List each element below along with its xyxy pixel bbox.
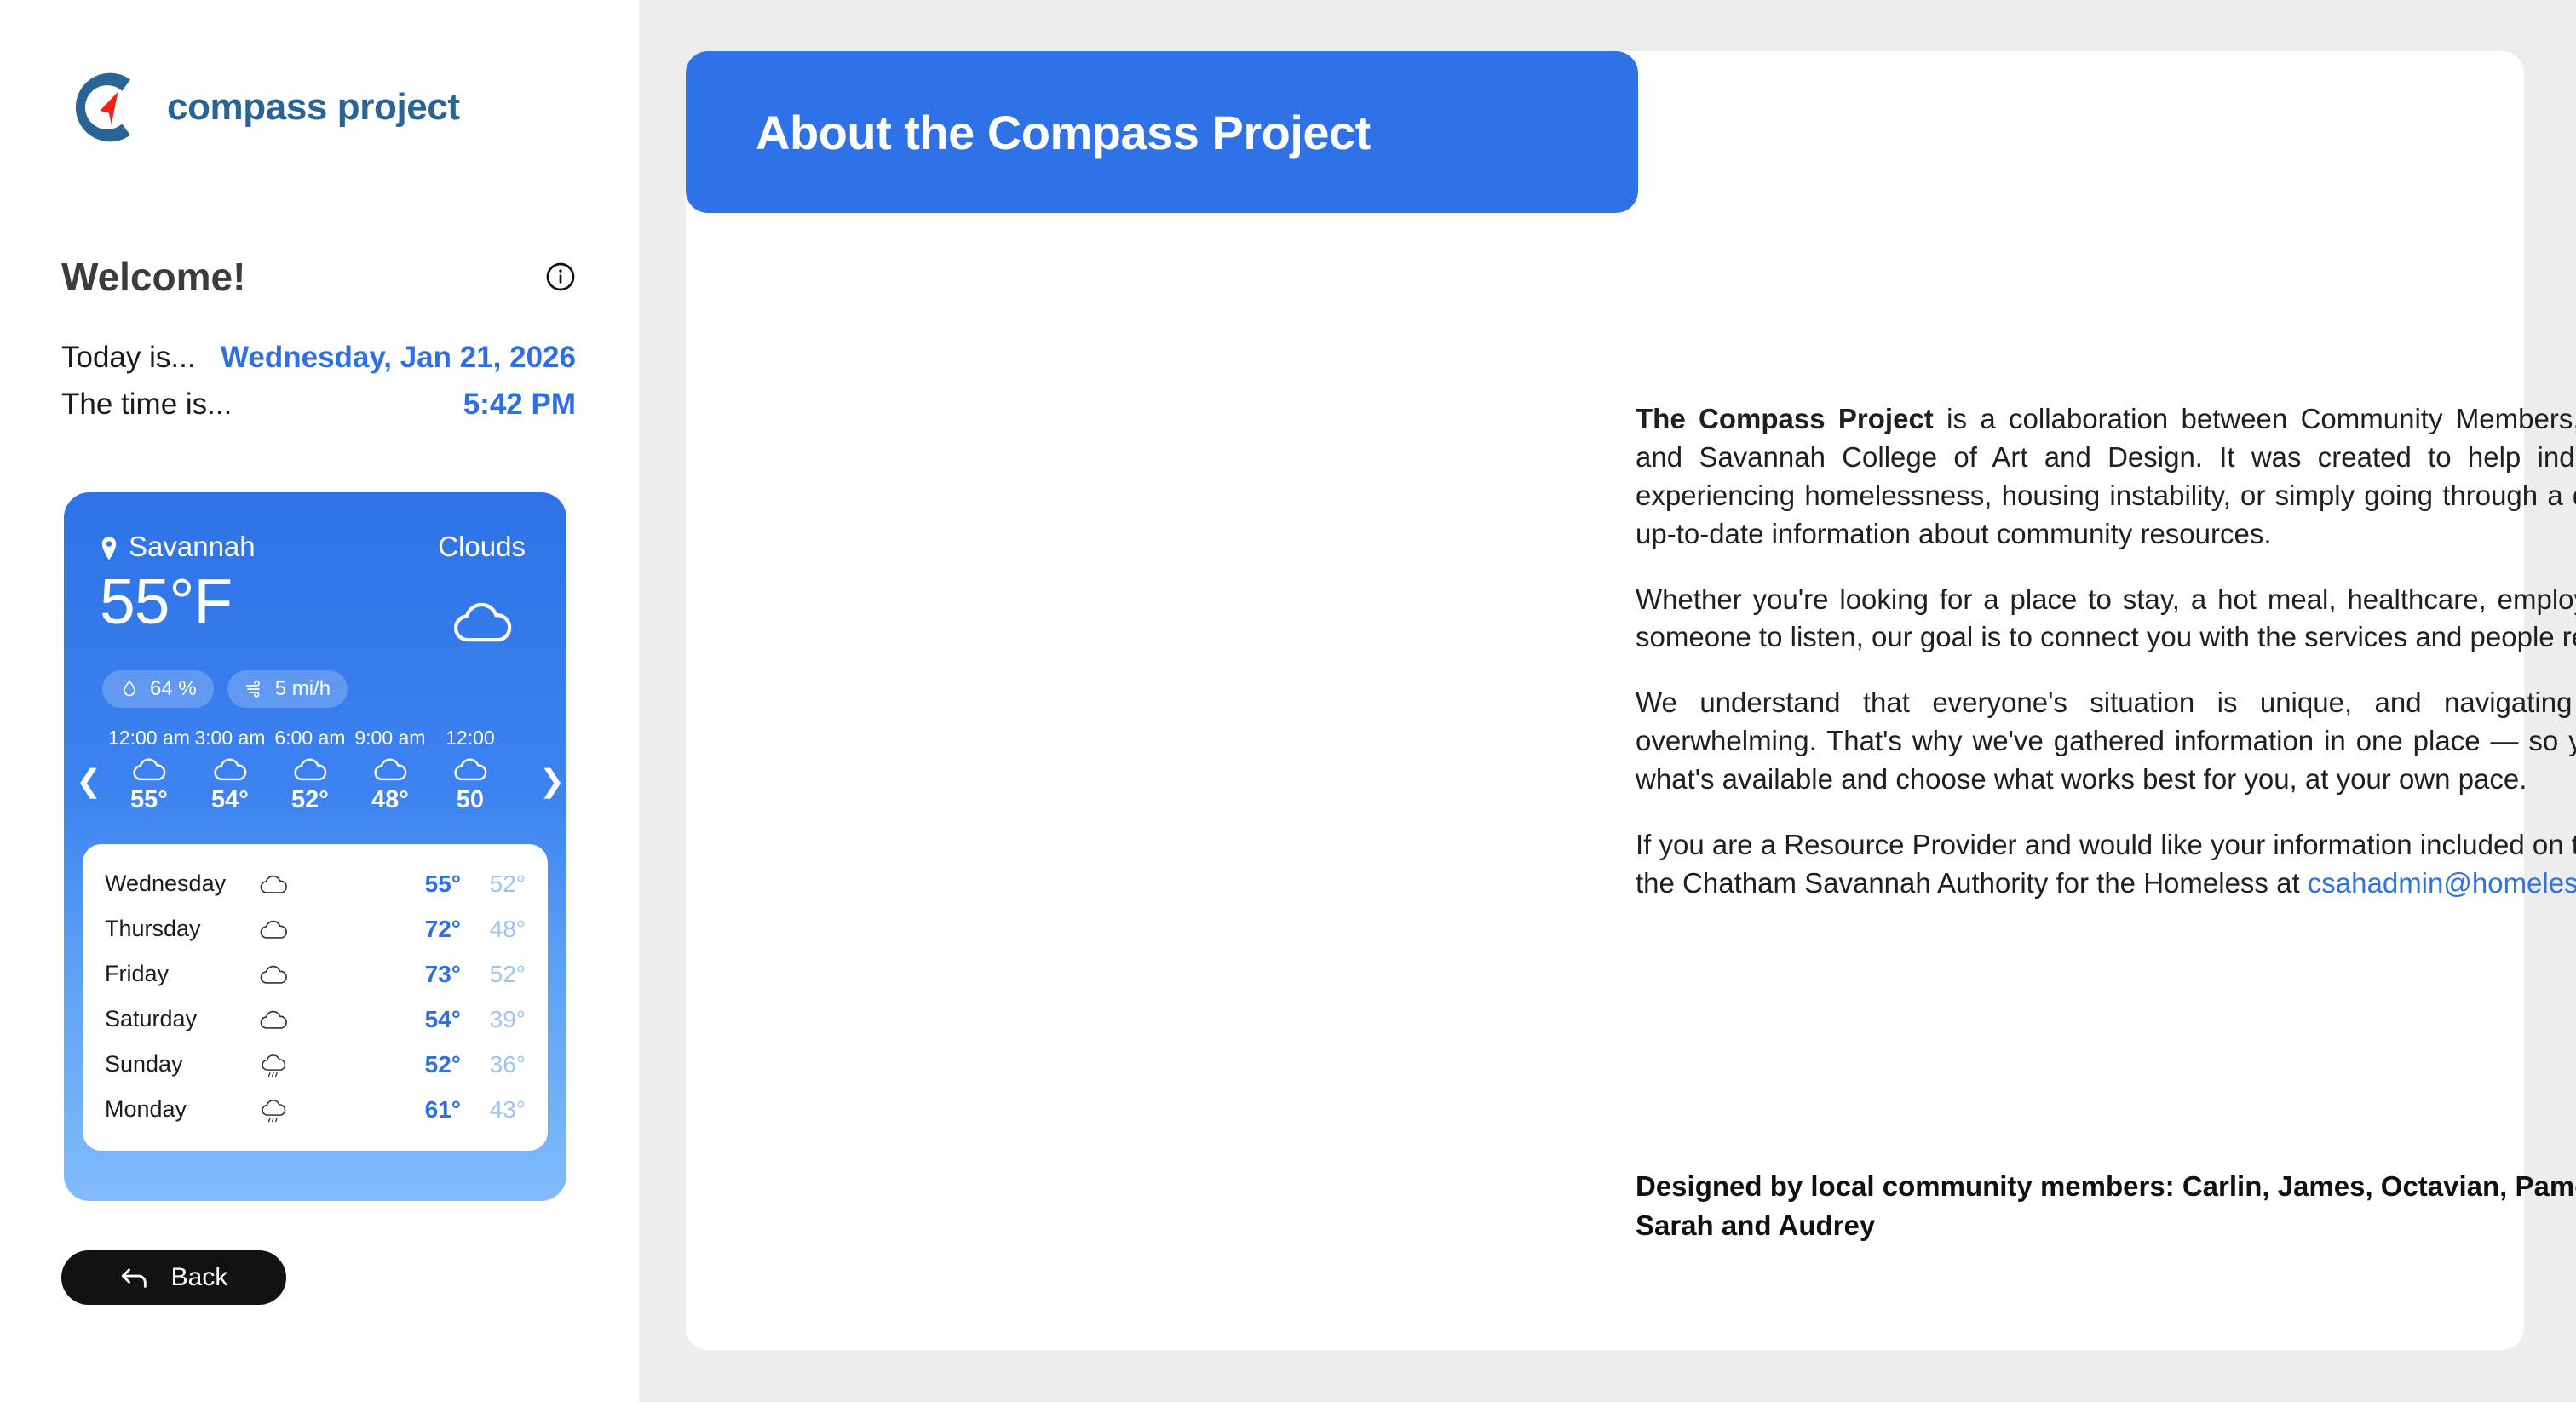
today-row: Today is... Wednesday, Jan 21, 2026	[61, 341, 576, 375]
daily-day-label: Wednesday	[105, 871, 256, 897]
hourly-time: 12:00	[430, 727, 510, 750]
daily-low: 39°	[461, 1006, 526, 1033]
sidebar: compass project Welcome! Today is... Wed…	[0, 0, 639, 1402]
hourly-item: 3:00 am 54°	[190, 727, 270, 814]
hourly-temp: 48°	[350, 786, 430, 814]
hourly-temp: 54°	[190, 786, 270, 814]
paragraph-3: We understand that everyone's situation …	[1636, 684, 2576, 799]
map-pin-icon	[100, 535, 118, 559]
cloud-icon	[451, 756, 489, 783]
daily-row: Sunday 52° 36°	[83, 1042, 548, 1087]
hourly-forecast: ❮ ❯ 12:00 am 55° 3:00 am	[64, 727, 566, 837]
water-drop-icon	[119, 679, 140, 699]
back-button[interactable]: Back	[61, 1250, 286, 1305]
daily-day-label: Friday	[105, 961, 256, 987]
cloud-icon	[371, 756, 409, 783]
today-label: Today is...	[61, 341, 196, 375]
daily-low: 43°	[461, 1096, 526, 1123]
daily-day-label: Thursday	[105, 916, 256, 942]
rain-cloud-icon	[256, 1054, 308, 1076]
daily-day-label: Sunday	[105, 1051, 256, 1077]
daily-row: Monday 61° 43°	[83, 1087, 548, 1132]
daily-high: 54°	[396, 1006, 461, 1033]
cloud-icon	[256, 1008, 308, 1031]
back-button-label: Back	[171, 1263, 228, 1292]
contact-email-link[interactable]: csahadmin@homelessauthority.org	[2308, 867, 2576, 899]
hero-title: About the Compass Project	[686, 105, 1371, 160]
wind-value: 5 mi/h	[275, 677, 331, 701]
daily-row: Thursday 72° 48°	[83, 906, 548, 951]
daily-high: 55°	[396, 871, 461, 898]
paragraph-2: Whether you're looking for a place to st…	[1636, 581, 2576, 658]
lead-phrase: The Compass Project	[1636, 403, 1934, 434]
app-root: compass project Welcome! Today is... Wed…	[0, 0, 2576, 1402]
time-row: The time is... 5:42 PM	[61, 388, 576, 422]
cloud-icon	[291, 756, 329, 783]
cloud-icon	[256, 918, 308, 940]
daily-row: Friday 73° 52°	[83, 951, 548, 997]
weather-temperature: 55°F	[100, 566, 232, 637]
brand-name: compass project	[167, 89, 460, 126]
hourly-track[interactable]: 12:00 am 55° 3:00 am 54°	[108, 727, 541, 814]
weather-metrics: 64 % 5 mi/h	[64, 655, 566, 708]
main-content: About the Compass Project The Compass Pr…	[639, 0, 2576, 1402]
about-article: The Compass Project is a collaboration b…	[1636, 400, 2576, 930]
cloud-icon	[449, 589, 515, 655]
humidity-value: 64 %	[150, 677, 197, 701]
cloud-icon	[130, 756, 168, 783]
cloud-icon	[211, 756, 249, 783]
compass-c-logo-icon	[66, 66, 148, 148]
daily-low: 48°	[461, 916, 526, 943]
time-label: The time is...	[61, 388, 232, 422]
paragraph-4: If you are a Resource Provider and would…	[1636, 826, 2576, 903]
hourly-item: 9:00 am 48°	[350, 727, 430, 814]
hourly-item: 12:00 50	[430, 727, 510, 814]
today-value: Wednesday, Jan 21, 2026	[221, 341, 576, 375]
chevron-right-icon[interactable]: ❯	[539, 766, 561, 796]
paragraph-1: The Compass Project is a collaboration b…	[1636, 400, 2576, 554]
credits-text: Designed by local community members: Car…	[1636, 1167, 2576, 1244]
brand-logo[interactable]: compass project	[66, 66, 460, 148]
weather-widget: Savannah Clouds 55°F	[64, 492, 566, 1201]
hourly-temp: 55°	[108, 786, 190, 814]
daily-day-label: Saturday	[105, 1006, 256, 1032]
daily-day-label: Monday	[105, 1096, 256, 1123]
info-circle-icon[interactable]	[545, 261, 576, 292]
weather-location: Savannah	[100, 531, 256, 563]
daily-forecast: Wednesday 55° 52° Thursday 72° 48°	[83, 844, 548, 1151]
wind-icon	[244, 679, 265, 699]
weather-city-label: Savannah	[129, 531, 256, 563]
daily-low: 52°	[461, 961, 526, 988]
rain-cloud-icon	[256, 1099, 308, 1121]
daily-low: 36°	[461, 1051, 526, 1078]
daily-low: 52°	[461, 871, 526, 898]
cloud-icon	[256, 873, 308, 895]
daily-high: 73°	[396, 961, 461, 988]
hourly-time: 12:00 am	[108, 727, 190, 750]
hourly-item: 12:00 am 55°	[108, 727, 190, 814]
hourly-time: 3:00 am	[190, 727, 270, 750]
humidity-badge: 64 %	[102, 670, 214, 708]
welcome-header: Welcome!	[61, 254, 576, 300]
time-value: 5:42 PM	[463, 388, 576, 422]
wind-badge: 5 mi/h	[227, 670, 348, 708]
arrow-back-icon	[120, 1267, 149, 1289]
page-title: Welcome!	[61, 254, 245, 300]
hourly-time: 9:00 am	[350, 727, 430, 750]
daily-row: Saturday 54° 39°	[83, 997, 548, 1042]
chevron-left-icon[interactable]: ❮	[76, 766, 98, 796]
daily-row: Wednesday 55° 52°	[83, 861, 548, 906]
hourly-temp: 50	[430, 786, 510, 814]
weather-header: Savannah Clouds	[64, 492, 566, 563]
weather-current: 55°F	[64, 563, 566, 655]
daily-high: 61°	[396, 1096, 461, 1123]
hourly-time: 6:00 am	[270, 727, 350, 750]
weather-condition-label: Clouds	[438, 531, 526, 563]
hourly-item: 6:00 am 52°	[270, 727, 350, 814]
daily-high: 72°	[396, 916, 461, 943]
daily-high: 52°	[396, 1051, 461, 1078]
hourly-temp: 52°	[270, 786, 350, 814]
hero-banner: About the Compass Project	[686, 51, 1638, 213]
cloud-icon	[256, 963, 308, 985]
